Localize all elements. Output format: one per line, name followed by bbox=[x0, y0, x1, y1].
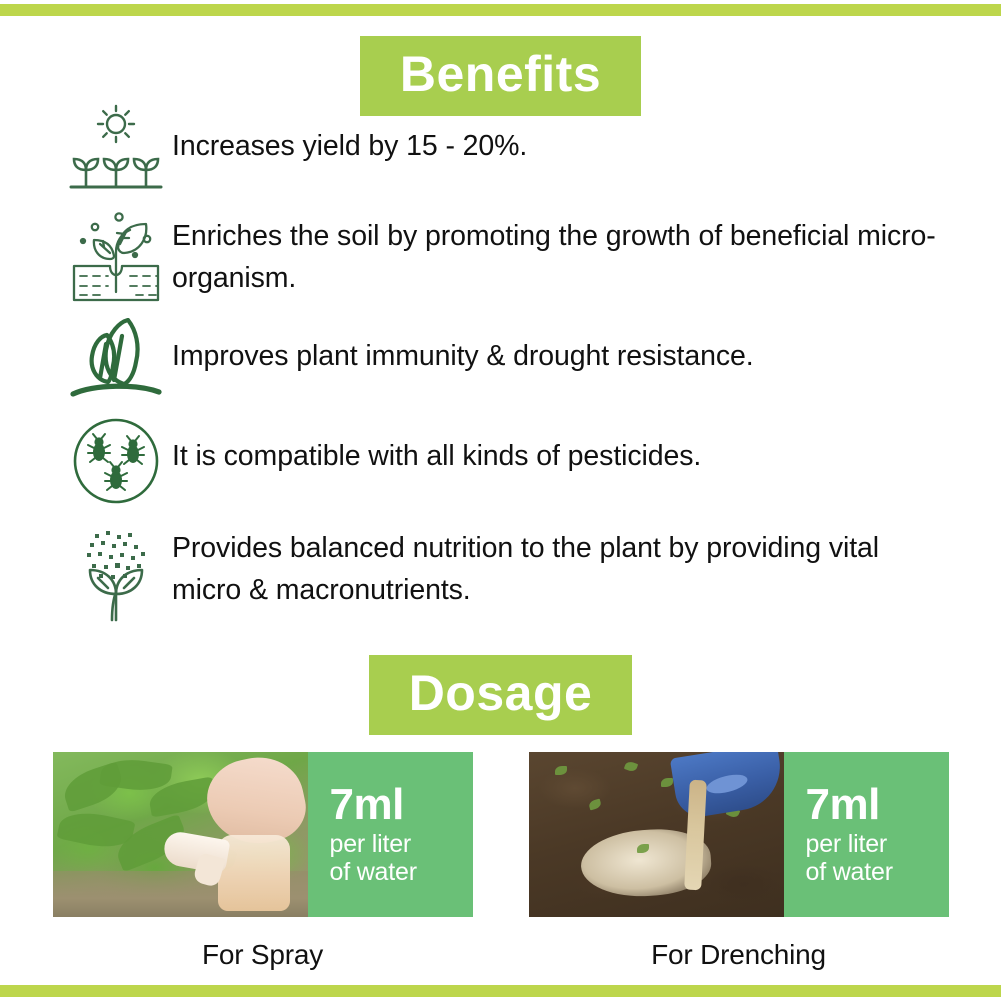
dosage-heading: Dosage bbox=[369, 655, 633, 735]
benefit-item: It is compatible with all kinds of pesti… bbox=[60, 414, 950, 508]
top-accent-bar bbox=[0, 4, 1001, 16]
benefit-text: Improves plant immunity & drought resist… bbox=[172, 318, 950, 378]
sun-over-sprouts-icon bbox=[60, 104, 172, 196]
bottom-accent-bar bbox=[0, 985, 1001, 997]
benefit-text: Provides balanced nutrition to the plant… bbox=[172, 520, 950, 611]
insects-in-circle-icon bbox=[60, 414, 172, 508]
dose-sub-line1: per liter bbox=[330, 830, 473, 858]
sprout-with-nutrients-icon bbox=[60, 520, 172, 624]
dose-amount: 7ml bbox=[806, 783, 949, 828]
dosage-cards: 7ml per liter of water For Spray bbox=[0, 752, 1001, 971]
dose-sub-line2: of water bbox=[806, 858, 949, 886]
bucket-drenching-soil-photo bbox=[529, 752, 784, 917]
dosage-card-drenching: 7ml per liter of water For Drenching bbox=[529, 752, 949, 971]
benefit-item: Improves plant immunity & drought resist… bbox=[60, 318, 950, 402]
benefits-list: Increases yield by 15 - 20%. bbox=[60, 104, 950, 636]
plant-in-soil-icon bbox=[60, 208, 172, 304]
benefit-item: Provides balanced nutrition to the plant… bbox=[60, 520, 950, 624]
dose-sub-line1: per liter bbox=[806, 830, 949, 858]
benefit-item: Enriches the soil by promoting the growt… bbox=[60, 208, 950, 304]
dose-sub-line2: of water bbox=[330, 858, 473, 886]
benefit-text: Increases yield by 15 - 20%. bbox=[172, 104, 950, 168]
dosage-card-spray: 7ml per liter of water For Spray bbox=[53, 752, 473, 971]
dosage-card-caption: For Spray bbox=[53, 939, 473, 971]
dose-amount: 7ml bbox=[330, 783, 473, 828]
benefit-text: It is compatible with all kinds of pesti… bbox=[172, 414, 950, 478]
dosage-heading-wrap: Dosage bbox=[0, 655, 1001, 735]
hand-spraying-plants-photo bbox=[53, 752, 308, 917]
dosage-card-caption: For Drenching bbox=[529, 939, 949, 971]
infographic-page: Benefits bbox=[0, 0, 1001, 1001]
two-leaves-icon bbox=[60, 318, 172, 402]
benefit-text: Enriches the soil by promoting the growt… bbox=[172, 208, 950, 299]
benefit-item: Increases yield by 15 - 20%. bbox=[60, 104, 950, 196]
